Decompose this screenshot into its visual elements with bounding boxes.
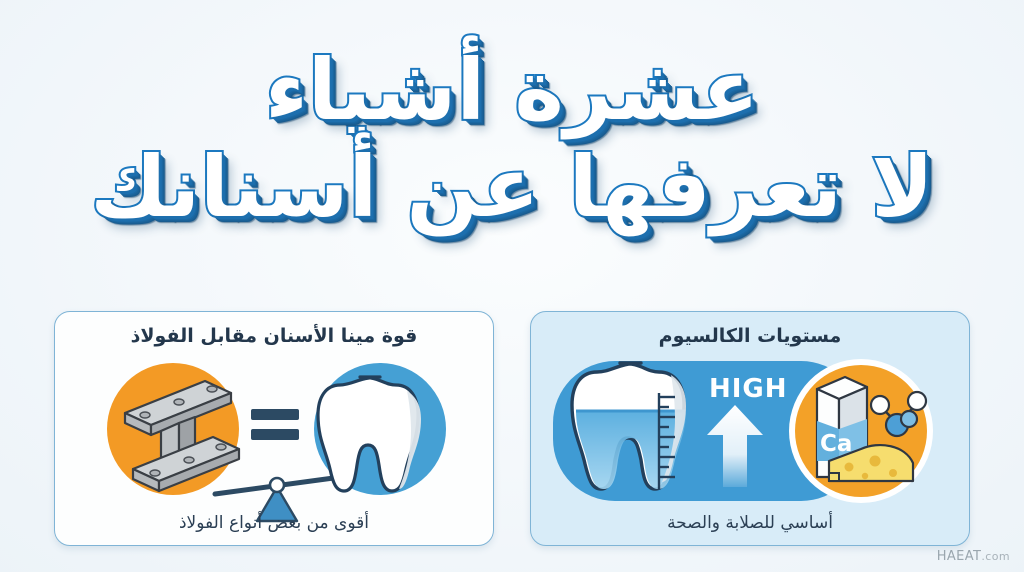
watermark: HAEAT.com xyxy=(937,549,1010,564)
card-enamel-vs-steel[interactable]: قوة مينا الأسنان مقابل الفولاذ xyxy=(54,311,494,546)
infographic-poster: عشرة أشياء لا تعرفها عن أسنانك قوة مينا … xyxy=(0,0,1024,572)
dairy-foods-icon: Ca xyxy=(789,359,933,503)
card-caption-calcium-levels: أساسي للصلابة والصحة xyxy=(531,513,969,533)
card-caption-enamel-vs-steel: أقوى من بعض أنواع الفولاذ xyxy=(55,513,493,533)
watermark-name: HAEAT xyxy=(937,549,982,564)
cards-row: قوة مينا الأسنان مقابل الفولاذ xyxy=(0,311,1024,546)
title-line-1: عشرة أشياء xyxy=(0,46,1024,135)
steel-beam-icon xyxy=(107,363,239,495)
card-calcium-levels[interactable]: مستويات الكالسيوم xyxy=(530,311,970,546)
title-line-2: لا تعرفها عن أسنانك xyxy=(0,143,1024,232)
equals-sign-icon xyxy=(251,409,299,440)
poster-title: عشرة أشياء لا تعرفها عن أسنانك xyxy=(0,46,1024,232)
level-label-high: HIGH xyxy=(709,374,788,404)
card-title-calcium-levels: مستويات الكالسيوم xyxy=(659,325,842,347)
tooth-icon xyxy=(314,363,446,495)
card-title-enamel-vs-steel: قوة مينا الأسنان مقابل الفولاذ xyxy=(131,325,418,347)
watermark-suffix: .com xyxy=(981,550,1010,563)
